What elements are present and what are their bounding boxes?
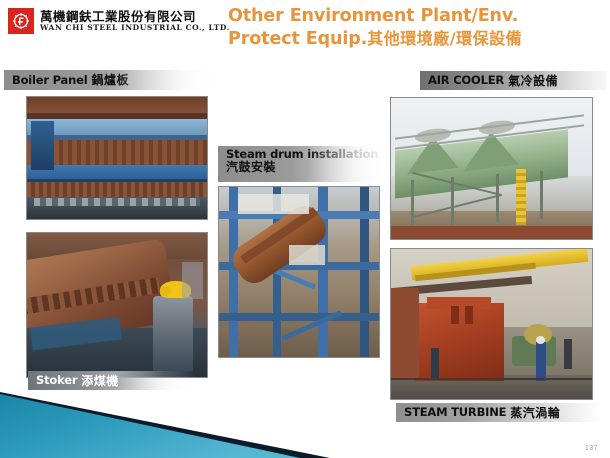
gear-logo-icon bbox=[8, 8, 34, 34]
caption-air-cooler-cn: 氣冷設備 bbox=[508, 72, 558, 89]
slide-canvas: 萬機鋼鈇工業股份有限公司 WAN CHI STEEL INDUSTRIAL CO… bbox=[0, 0, 610, 458]
caption-stoker: Stoker 添煤機 bbox=[28, 371, 196, 390]
photo-stoker bbox=[26, 232, 208, 378]
photo-steam-turbine-image bbox=[391, 249, 592, 399]
company-name-en: WAN CHI STEEL INDUSTRIAL CO., LTD. bbox=[40, 24, 230, 32]
company-names: 萬機鋼鈇工業股份有限公司 WAN CHI STEEL INDUSTRIAL CO… bbox=[40, 10, 230, 32]
company-logo-block: 萬機鋼鈇工業股份有限公司 WAN CHI STEEL INDUSTRIAL CO… bbox=[8, 8, 230, 34]
caption-steam-drum-en: Steam drum installation bbox=[226, 148, 378, 161]
photo-steam-drum-image bbox=[219, 187, 379, 357]
caption-air-cooler-en: AIR COOLER bbox=[428, 73, 504, 87]
page-number: 137 bbox=[585, 445, 598, 452]
caption-air-cooler: AIR COOLER 氣冷設備 bbox=[420, 71, 606, 90]
page-title: Other Environment Plant/Env. Protect Equ… bbox=[228, 5, 606, 51]
caption-boiler-panel-en: Boiler Panel bbox=[12, 73, 87, 87]
page-title-line2: Protect Equip.其他環境廠/環保設備 bbox=[228, 28, 606, 51]
caption-stoker-en: Stoker bbox=[36, 373, 77, 387]
photo-air-cooler bbox=[390, 97, 593, 240]
caption-steam-turbine: STEAM TURBINE 蒸汽渦輪 bbox=[396, 403, 600, 422]
page-title-line2-cn: 其他環境廠/環保設備 bbox=[367, 29, 522, 48]
page-title-line1: Other Environment Plant/Env. bbox=[228, 5, 606, 28]
photo-steam-drum bbox=[218, 186, 380, 358]
company-name-cn: 萬機鋼鈇工業股份有限公司 bbox=[40, 10, 230, 23]
photo-boiler-panel bbox=[26, 96, 208, 220]
caption-steam-drum-cn: 汽鼓安裝 bbox=[226, 161, 276, 174]
caption-boiler-panel-cn: 鍋爐板 bbox=[91, 71, 129, 88]
photo-steam-turbine bbox=[390, 248, 593, 400]
photo-air-cooler-image bbox=[391, 98, 592, 239]
photo-boiler-panel-image bbox=[27, 97, 207, 219]
photo-stoker-image bbox=[27, 233, 207, 377]
caption-steam-turbine-cn: 蒸汽渦輪 bbox=[510, 404, 560, 421]
decorative-wedge bbox=[0, 378, 420, 458]
caption-stoker-cn: 添煤機 bbox=[81, 372, 119, 389]
caption-steam-turbine-en: STEAM TURBINE bbox=[404, 405, 506, 419]
page-title-line2-en: Protect Equip. bbox=[228, 29, 367, 49]
caption-boiler-panel: Boiler Panel 鍋爐板 bbox=[4, 70, 220, 90]
caption-steam-drum: Steam drum installation 汽鼓安裝 bbox=[218, 146, 390, 182]
